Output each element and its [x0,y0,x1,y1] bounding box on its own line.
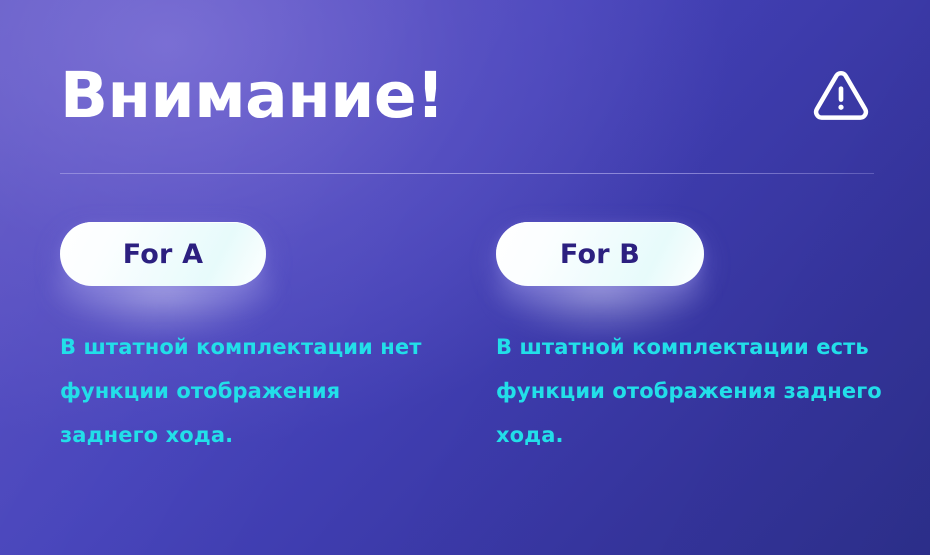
pill-button-for-b[interactable]: For B [496,222,704,286]
column-for-b: For B [496,222,896,286]
warning-slide: Внимание! For A [0,0,930,555]
pill-wrap-a: For A [60,222,266,286]
pill-label-for-a: For A [123,241,204,268]
pill-label-for-b: For B [560,241,640,268]
pill-button-for-a[interactable]: For A [60,222,266,286]
description-for-b: В штатной комплектации есть функции отоб… [496,325,886,457]
slide-content: Внимание! For A [0,0,930,555]
comparison-columns: For A For B В штатной комплектации нет ф… [0,0,930,555]
description-for-a: В штатной комплектации нет функции отобр… [60,325,442,457]
column-for-a: For A [60,222,460,286]
pill-wrap-b: For B [496,222,704,286]
